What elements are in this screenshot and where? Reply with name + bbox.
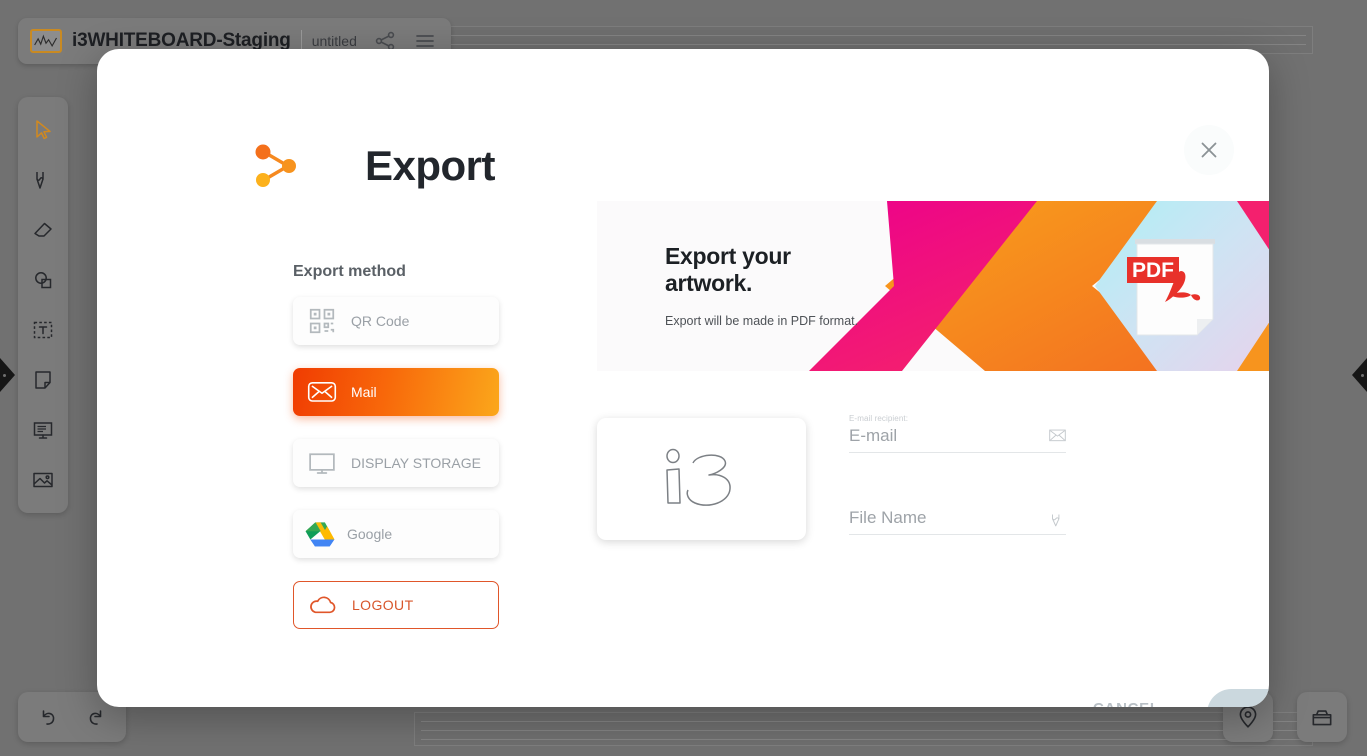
qr-code-icon [307, 308, 337, 334]
presentation-icon[interactable] [21, 405, 65, 455]
cloud-icon [308, 592, 338, 618]
email-field-value: E-mail [849, 426, 897, 446]
shapes-icon[interactable] [21, 255, 65, 305]
method-label: DISPLAY STORAGE [351, 455, 481, 471]
export-method-list: Export method QR Code Mail [293, 263, 499, 652]
text-box-icon[interactable] [21, 305, 65, 355]
envelope-icon [307, 379, 337, 405]
close-icon[interactable] [1184, 125, 1234, 175]
ruled-line [421, 739, 1306, 740]
email-field-label: E-mail recipient: [849, 414, 1066, 426]
ruled-line [421, 730, 1306, 731]
method-label: QR Code [351, 313, 409, 329]
file-name-field[interactable]: File Name [849, 496, 1066, 535]
export-method-label: Export method [293, 263, 499, 281]
dialog-title: Export [365, 142, 495, 190]
envelope-outline-icon [1049, 429, 1066, 446]
canvas-ruled-panel-bottom [414, 712, 1313, 746]
method-qr-code[interactable]: QR Code [293, 297, 499, 345]
monitor-icon [307, 450, 337, 476]
ruled-line [421, 721, 1306, 722]
expand-right-triangle-icon[interactable] [1352, 358, 1367, 392]
document-name: untitled [312, 33, 357, 49]
google-drive-icon [305, 521, 335, 547]
ruled-line [421, 44, 1306, 45]
export-form-fields: E-mail recipient: E-mail File Name [849, 414, 1066, 535]
email-field[interactable]: E-mail recipient: E-mail [849, 414, 1066, 453]
method-logout[interactable]: LOGOUT [293, 581, 499, 629]
cursor-arrow-icon[interactable] [21, 105, 65, 155]
banner-heading: Export your artwork. [665, 243, 875, 297]
send-mail-button[interactable]: SEND MAIL [1207, 689, 1269, 707]
export-banner: Export your artwork. Export will be made… [597, 201, 1269, 371]
banner-text: Export your artwork. Export will be made… [665, 243, 875, 331]
file-name-field-label [849, 496, 1066, 508]
dialog-header: Export [252, 141, 495, 191]
toolbox-icon[interactable] [1297, 692, 1347, 742]
sticky-note-icon[interactable] [21, 355, 65, 405]
pen-icon[interactable] [21, 155, 65, 205]
undo-arrow-icon[interactable] [24, 694, 72, 740]
method-google[interactable]: Google [293, 510, 499, 558]
method-display-storage[interactable]: DISPLAY STORAGE [293, 439, 499, 487]
whiteboard-logo-icon [30, 29, 62, 53]
tool-rail [18, 97, 68, 513]
ruled-line [421, 35, 1306, 36]
method-label: Google [347, 526, 392, 542]
eraser-icon[interactable] [21, 205, 65, 255]
i3-sketch-icon [647, 439, 757, 519]
expand-left-triangle-icon[interactable] [0, 358, 15, 392]
pdf-file-icon: PDF [1121, 231, 1231, 343]
file-name-field-value: File Name [849, 508, 926, 528]
artwork-preview-thumbnail[interactable] [597, 418, 806, 540]
method-label: Mail [351, 384, 377, 400]
export-dialog: Export Export method QR Code [97, 49, 1269, 707]
pen-nib-icon [1049, 511, 1066, 528]
pdf-badge-text: PDF [1132, 259, 1174, 282]
image-icon[interactable] [21, 455, 65, 505]
share-nodes-icon [252, 141, 300, 191]
cancel-button[interactable]: CANCEL [1093, 700, 1160, 707]
method-mail[interactable]: Mail [293, 368, 499, 416]
banner-paragraph: Export will be made in PDF format. [665, 313, 875, 331]
method-label: LOGOUT [352, 597, 414, 613]
